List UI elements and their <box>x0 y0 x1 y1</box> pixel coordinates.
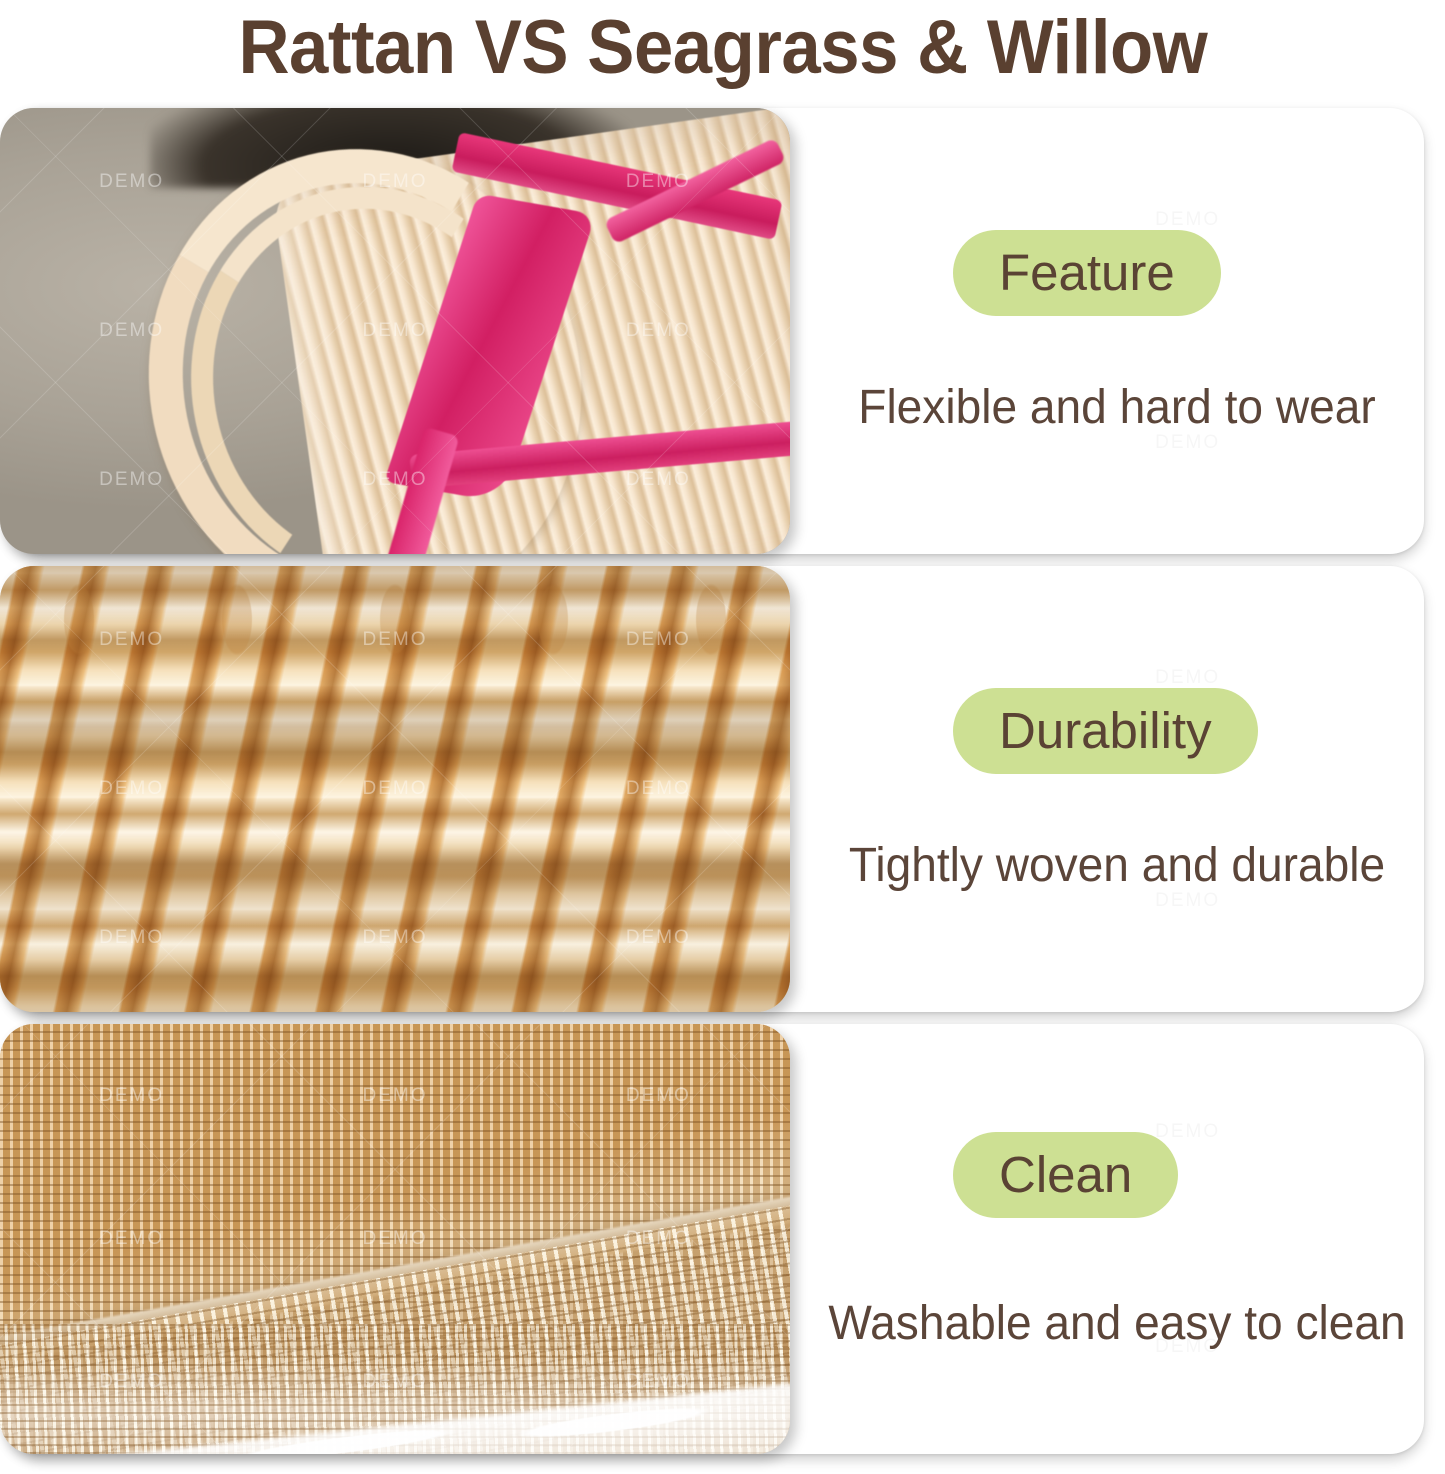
woven-rattan-weave-photo: DEMO DEMO DEMO DEMO DEMO DEMO DEMO DEMO … <box>0 566 790 1012</box>
page-title: Rattan VS Seagrass & Willow <box>238 6 1207 90</box>
badge-label: Clean <box>999 1147 1132 1203</box>
rattan-basket-rim-photo: DEMO DEMO DEMO DEMO DEMO DEMO DEMO DEMO … <box>0 1024 790 1454</box>
status-badge-clean: Clean <box>953 1132 1178 1218</box>
status-badge-durability: Durability <box>953 688 1258 774</box>
rattan-cane-coils-photo: DEMO DEMO DEMO DEMO DEMO DEMO DEMO DEMO … <box>0 108 790 554</box>
comparison-row-clean: DEMO DEMO DEMO DEMO DEMO DEMO DEMO DEMO … <box>0 1024 1445 1454</box>
durability-text-column: Durability Tightly woven and durable <box>811 566 1423 1012</box>
status-badge-feature: Feature <box>953 230 1221 316</box>
comparison-row-feature: DEMO DEMO DEMO DEMO DEMO DEMO DEMO DEMO … <box>0 108 1445 554</box>
feature-description: Flexible and hard to wear <box>823 380 1411 436</box>
page-header: Rattan VS Seagrass & Willow <box>0 0 1445 96</box>
badge-label: Durability <box>999 703 1212 759</box>
clean-description: Washable and easy to clean <box>823 1296 1411 1352</box>
badge-label: Feature <box>999 245 1175 301</box>
clean-text-column: Clean Washable and easy to clean <box>811 1024 1423 1454</box>
comparison-row-durability: DEMO DEMO DEMO DEMO DEMO DEMO DEMO DEMO … <box>0 566 1445 1012</box>
feature-text-column: Feature Flexible and hard to wear <box>811 108 1423 554</box>
durability-description: Tightly woven and durable <box>823 838 1411 894</box>
